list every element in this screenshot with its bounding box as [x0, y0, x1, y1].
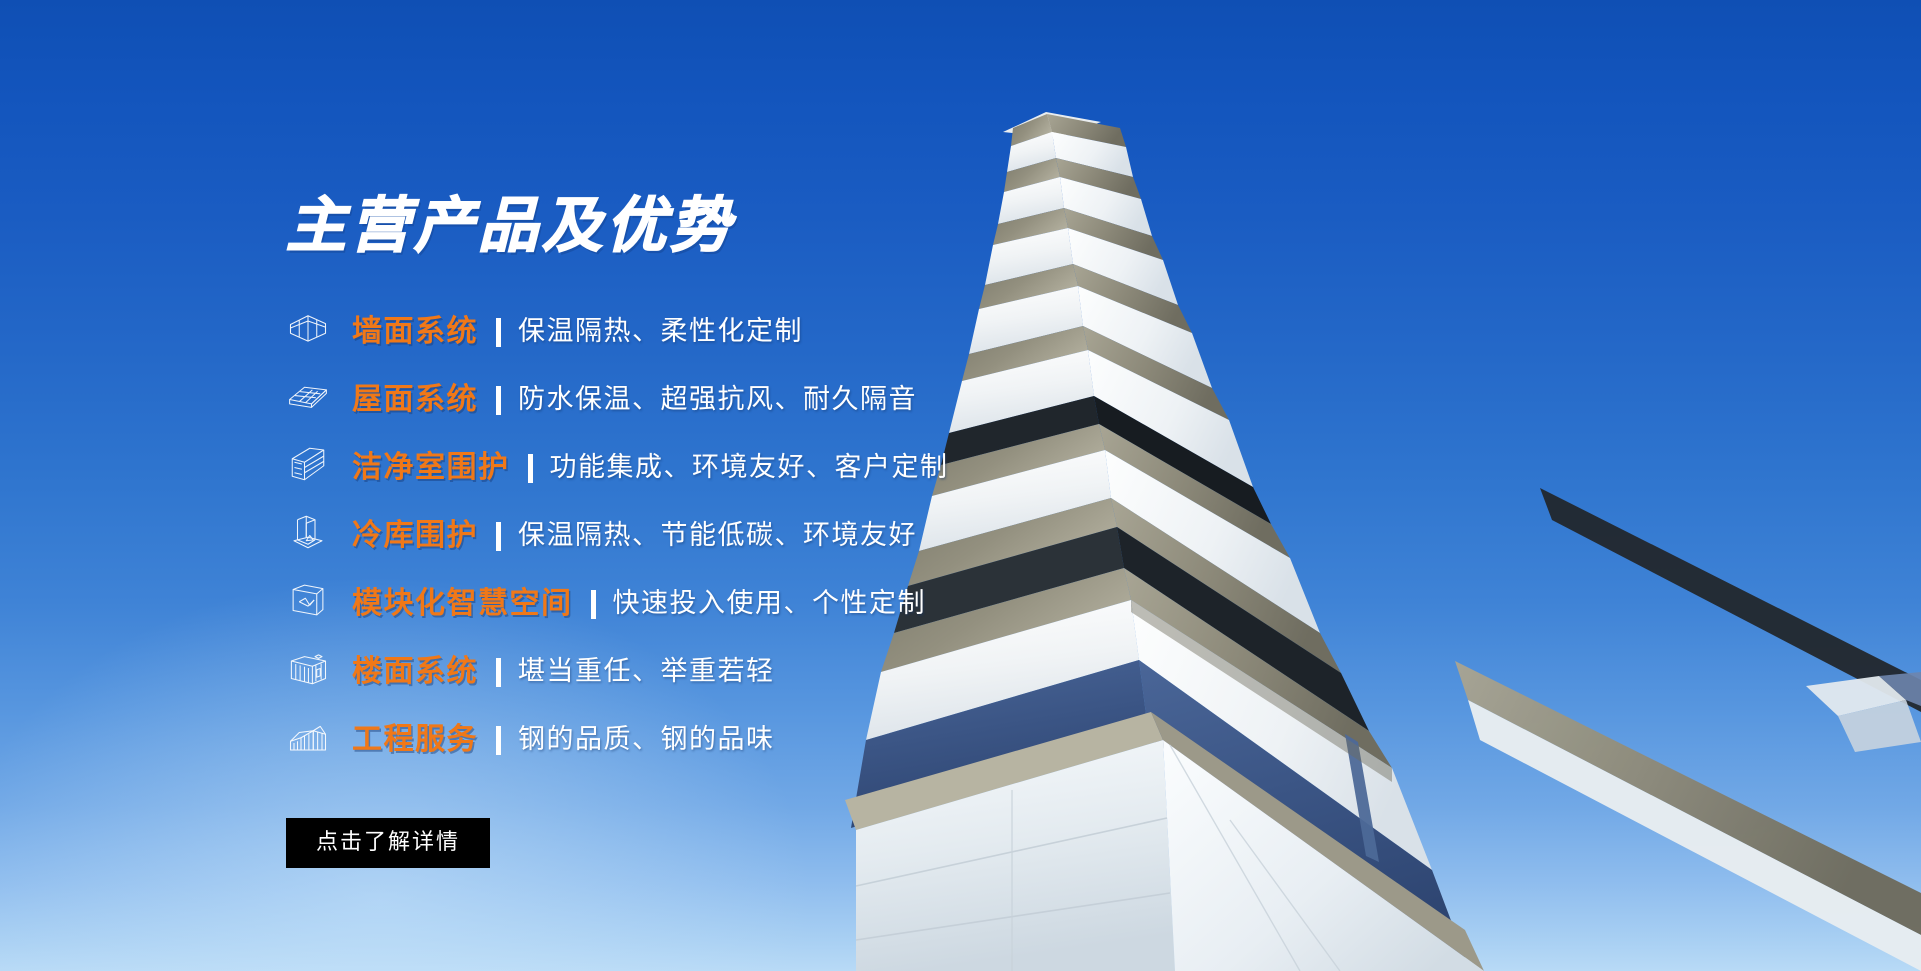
feature-row[interactable]: 墙面系统 保温隔热、柔性化定制 [286, 294, 1106, 362]
feature-row[interactable]: 屋面系统 防水保温、超强抗风、耐久隔音 [286, 362, 1106, 430]
page-title: 主营产品及优势 [286, 196, 1106, 256]
banner-content: 主营产品及优势 墙面系统 保温隔热、柔性化定制 [286, 196, 1106, 868]
feature-row[interactable]: 洁净室围护 功能集成、环境友好、客户定制 [286, 430, 1106, 498]
cleanroom-enclosure-icon [286, 442, 330, 486]
feature-separator [496, 386, 501, 415]
feature-row[interactable]: 工程服务 钢的品质、钢的品味 [286, 702, 1106, 770]
wall-system-icon [286, 306, 330, 350]
feature-description: 钢的品质、钢的品味 [518, 717, 775, 756]
feature-separator [528, 454, 533, 483]
feature-title: 屋面系统 [352, 374, 478, 418]
hero-banner: 主营产品及优势 墙面系统 保温隔热、柔性化定制 [0, 0, 1921, 971]
feature-description: 保温隔热、节能低碳、环境友好 [518, 513, 917, 552]
feature-row[interactable]: 冷库围护 保温隔热、节能低碳、环境友好 [286, 498, 1106, 566]
feature-row[interactable]: 楼面系统 堪当重任、举重若轻 [286, 634, 1106, 702]
floor-system-icon [286, 646, 330, 690]
feature-description: 防水保温、超强抗风、耐久隔音 [518, 377, 917, 416]
feature-description: 堪当重任、举重若轻 [518, 649, 775, 688]
feature-separator [591, 590, 596, 619]
feature-separator [496, 726, 501, 755]
cold-storage-enclosure-icon [286, 510, 330, 554]
feature-title: 工程服务 [352, 714, 478, 758]
feature-separator [496, 318, 501, 347]
feature-row[interactable]: 模块化智慧空间 快速投入使用、个性定制 [286, 566, 1106, 634]
feature-description: 功能集成、环境友好、客户定制 [550, 445, 949, 484]
feature-title: 楼面系统 [352, 646, 478, 690]
cta-wrapper: 点击了解详情 [286, 818, 1106, 868]
feature-title: 模块化智慧空间 [352, 578, 573, 622]
learn-more-button[interactable]: 点击了解详情 [286, 818, 490, 868]
feature-title: 冷库围护 [352, 510, 478, 554]
feature-list: 墙面系统 保温隔热、柔性化定制 屋面系统 防水保温、超强抗风、 [286, 294, 1106, 770]
feature-separator [496, 658, 501, 687]
feature-title: 墙面系统 [352, 306, 478, 350]
feature-description: 快速投入使用、个性定制 [613, 581, 927, 620]
modular-smart-space-icon [286, 578, 330, 622]
engineering-service-icon [286, 714, 330, 758]
feature-separator [496, 522, 501, 551]
feature-description: 保温隔热、柔性化定制 [518, 309, 803, 348]
roof-system-icon [286, 374, 330, 418]
feature-title: 洁净室围护 [352, 442, 510, 486]
